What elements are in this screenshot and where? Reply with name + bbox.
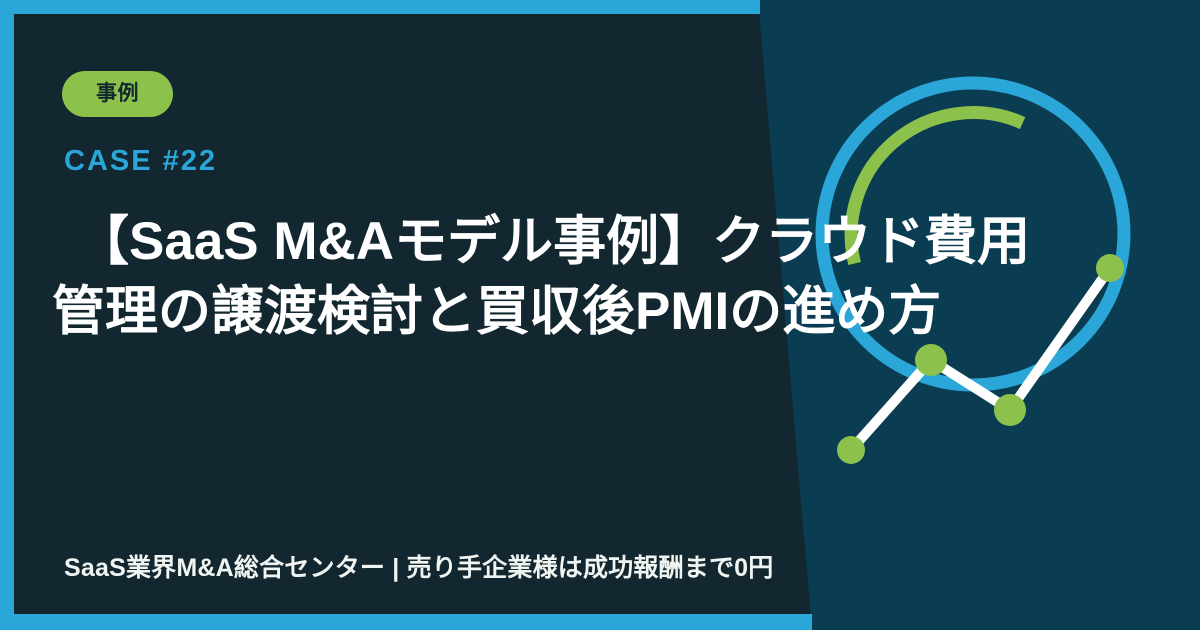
footer-brand-tagline: SaaS業界M&A総合センター | 売り手企業様は成功報酬まで0円 bbox=[64, 548, 773, 584]
case-number-label: CASE #22 bbox=[64, 145, 217, 178]
page-title-line-1: 【SaaS M&Aモデル事例】クラウド費用 bbox=[52, 207, 1062, 277]
card-content: 事例 CASE #22 【SaaS M&Aモデル事例】クラウド費用 管理の譲渡検… bbox=[0, 0, 1200, 630]
category-badge: 事例 bbox=[62, 71, 173, 117]
og-card: 事例 CASE #22 【SaaS M&Aモデル事例】クラウド費用 管理の譲渡検… bbox=[0, 0, 1200, 630]
page-title-line-2: 管理の譲渡検討と買収後PMIの進め方 bbox=[52, 277, 1062, 347]
page-title: 【SaaS M&Aモデル事例】クラウド費用 管理の譲渡検討と買収後PMIの進め方 bbox=[52, 207, 1062, 347]
